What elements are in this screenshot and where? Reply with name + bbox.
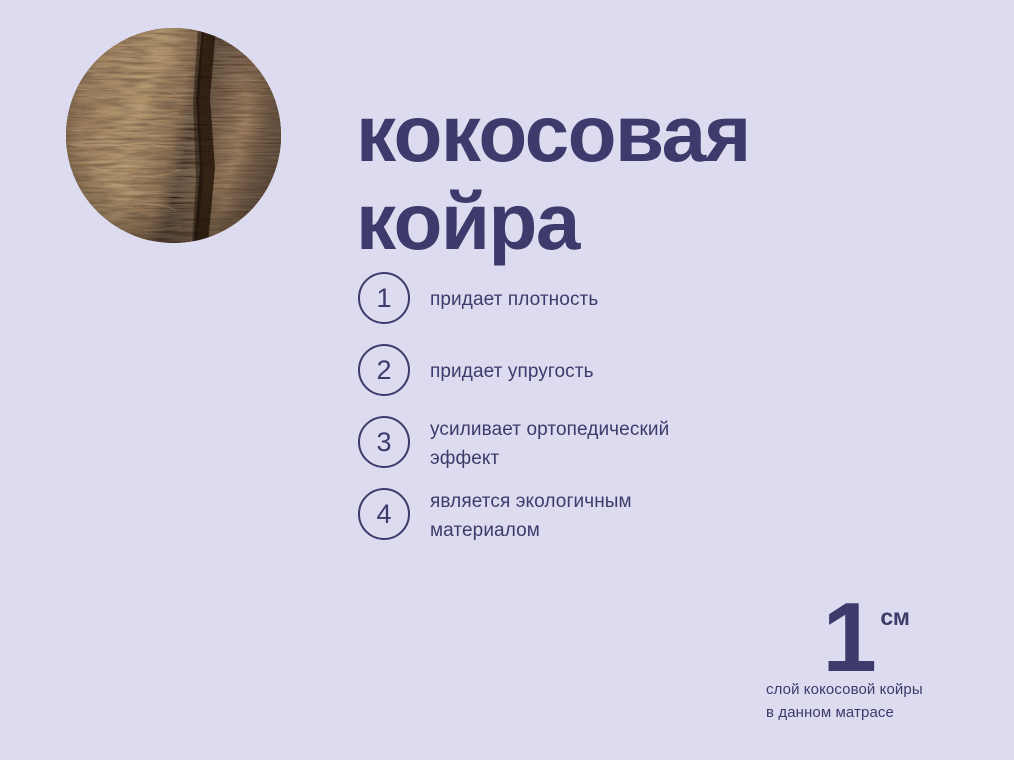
thickness-unit: см [880,606,909,629]
benefit-item-2: 2 придает упругость [358,344,878,416]
benefit-label-4: является экологичным материалом [430,487,850,545]
benefit-label-2: придает упругость [430,357,850,386]
benefit-label-1: придает плотность [430,285,850,314]
benefit-item-3: 3 усиливает ортопедический эффект [358,416,878,488]
benefit-number-badge-3: 3 [358,416,410,468]
thickness-callout: 1 см слой кокосовой койры в данном матра… [766,596,966,724]
benefit-number-badge-1: 1 [358,272,410,324]
benefit-number-badge-2: 2 [358,344,410,396]
benefits-list: 1 придает плотность 2 придает упругость … [358,272,878,560]
benefit-number-badge-4: 4 [358,488,410,540]
infographic-slide: кокосовая койра 1 придает плотность 2 пр… [0,0,1014,760]
page-title: кокосовая койра [356,90,956,266]
benefit-item-1: 1 придает плотность [358,272,878,344]
benefit-label-3: усиливает ортопедический эффект [430,415,850,473]
thickness-measure: 1 см [766,596,966,678]
coconut-coir-photo [66,28,281,243]
benefit-item-4: 4 является экологичным материалом [358,488,878,560]
thickness-value: 1 [822,596,874,678]
